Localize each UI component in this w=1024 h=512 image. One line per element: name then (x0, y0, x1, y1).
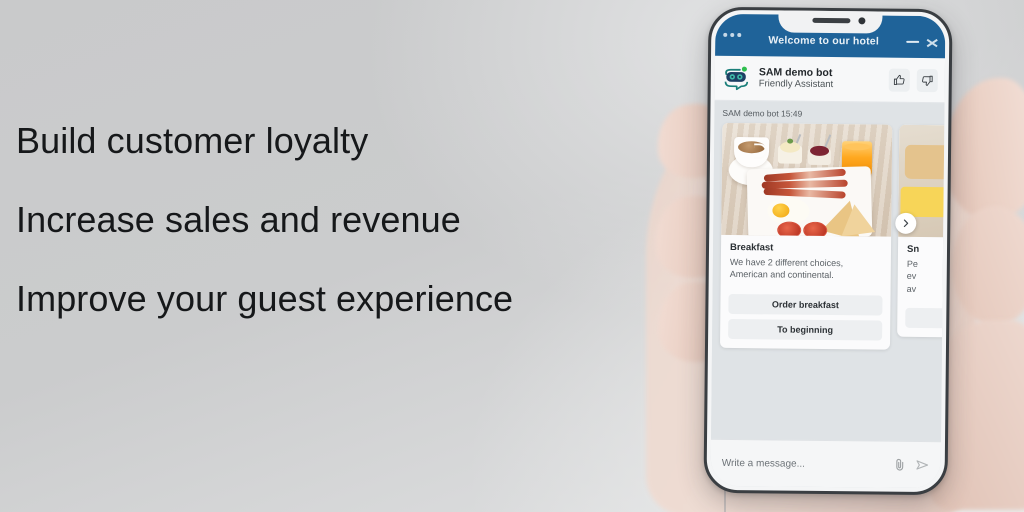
bot-identity-bar: SAM demo bot Friendly Assistant (715, 56, 945, 103)
bot-subtitle: Friendly Assistant (759, 79, 882, 92)
to-beginning-button[interactable]: To beginning (728, 319, 882, 341)
robot-avatar-icon (722, 65, 752, 91)
close-icon[interactable] (926, 37, 937, 48)
front-camera (858, 17, 865, 24)
phone-notch (778, 8, 882, 33)
chat-title: Welcome to our hotel (741, 34, 906, 48)
card-carousel[interactable]: Breakfast We have 2 different choices, A… (712, 123, 944, 350)
header-controls (906, 36, 937, 47)
promotional-banner: Build customer loyalty Increase sales an… (0, 0, 1024, 512)
bot-meta: SAM demo bot Friendly Assistant (759, 67, 882, 92)
card-actions (897, 299, 944, 338)
card-actions: Order breakfast To beginning (720, 285, 891, 350)
card-description-line-1: Pe (907, 258, 945, 271)
breakfast-photo (721, 123, 892, 237)
paperclip-icon[interactable] (893, 457, 907, 473)
thumbs-up-icon[interactable] (889, 68, 910, 91)
more-horizontal-icon[interactable] (723, 33, 741, 37)
smartphone-mockup: Welcome to our hotel (703, 7, 952, 496)
headline-2: Increase sales and revenue (16, 199, 616, 240)
chat-message-area: SAM demo bot 15:49 (711, 101, 945, 441)
message-input[interactable]: Write a message... (722, 457, 885, 470)
message-input-bar[interactable]: Write a message... (711, 439, 941, 488)
card-description-line-2: ev (907, 270, 945, 283)
card-title: Sn (907, 244, 945, 255)
card-title: Breakfast (730, 242, 882, 255)
card-description-line-3: av (907, 283, 945, 296)
send-icon[interactable] (915, 458, 930, 472)
headline-1: Build customer loyalty (16, 120, 616, 161)
card-breakfast[interactable]: Breakfast We have 2 different choices, A… (720, 123, 892, 350)
hand-thumb-right (944, 78, 1024, 218)
earpiece-speaker (812, 18, 850, 23)
card-description: We have 2 different choices, American an… (730, 256, 882, 282)
minimize-icon[interactable] (906, 41, 919, 43)
chevron-right-icon[interactable] (895, 213, 916, 234)
headline-block: Build customer loyalty Increase sales an… (16, 120, 616, 319)
thumbs-down-icon[interactable] (917, 68, 938, 91)
headline-3: Improve your guest experience (16, 278, 616, 319)
card-text: Sn Pe ev av (898, 237, 945, 300)
order-breakfast-button[interactable]: Order breakfast (728, 294, 882, 316)
card-text: Breakfast We have 2 different choices, A… (721, 235, 892, 287)
phone-screen: Welcome to our hotel (711, 14, 946, 488)
card-button[interactable] (905, 308, 944, 329)
